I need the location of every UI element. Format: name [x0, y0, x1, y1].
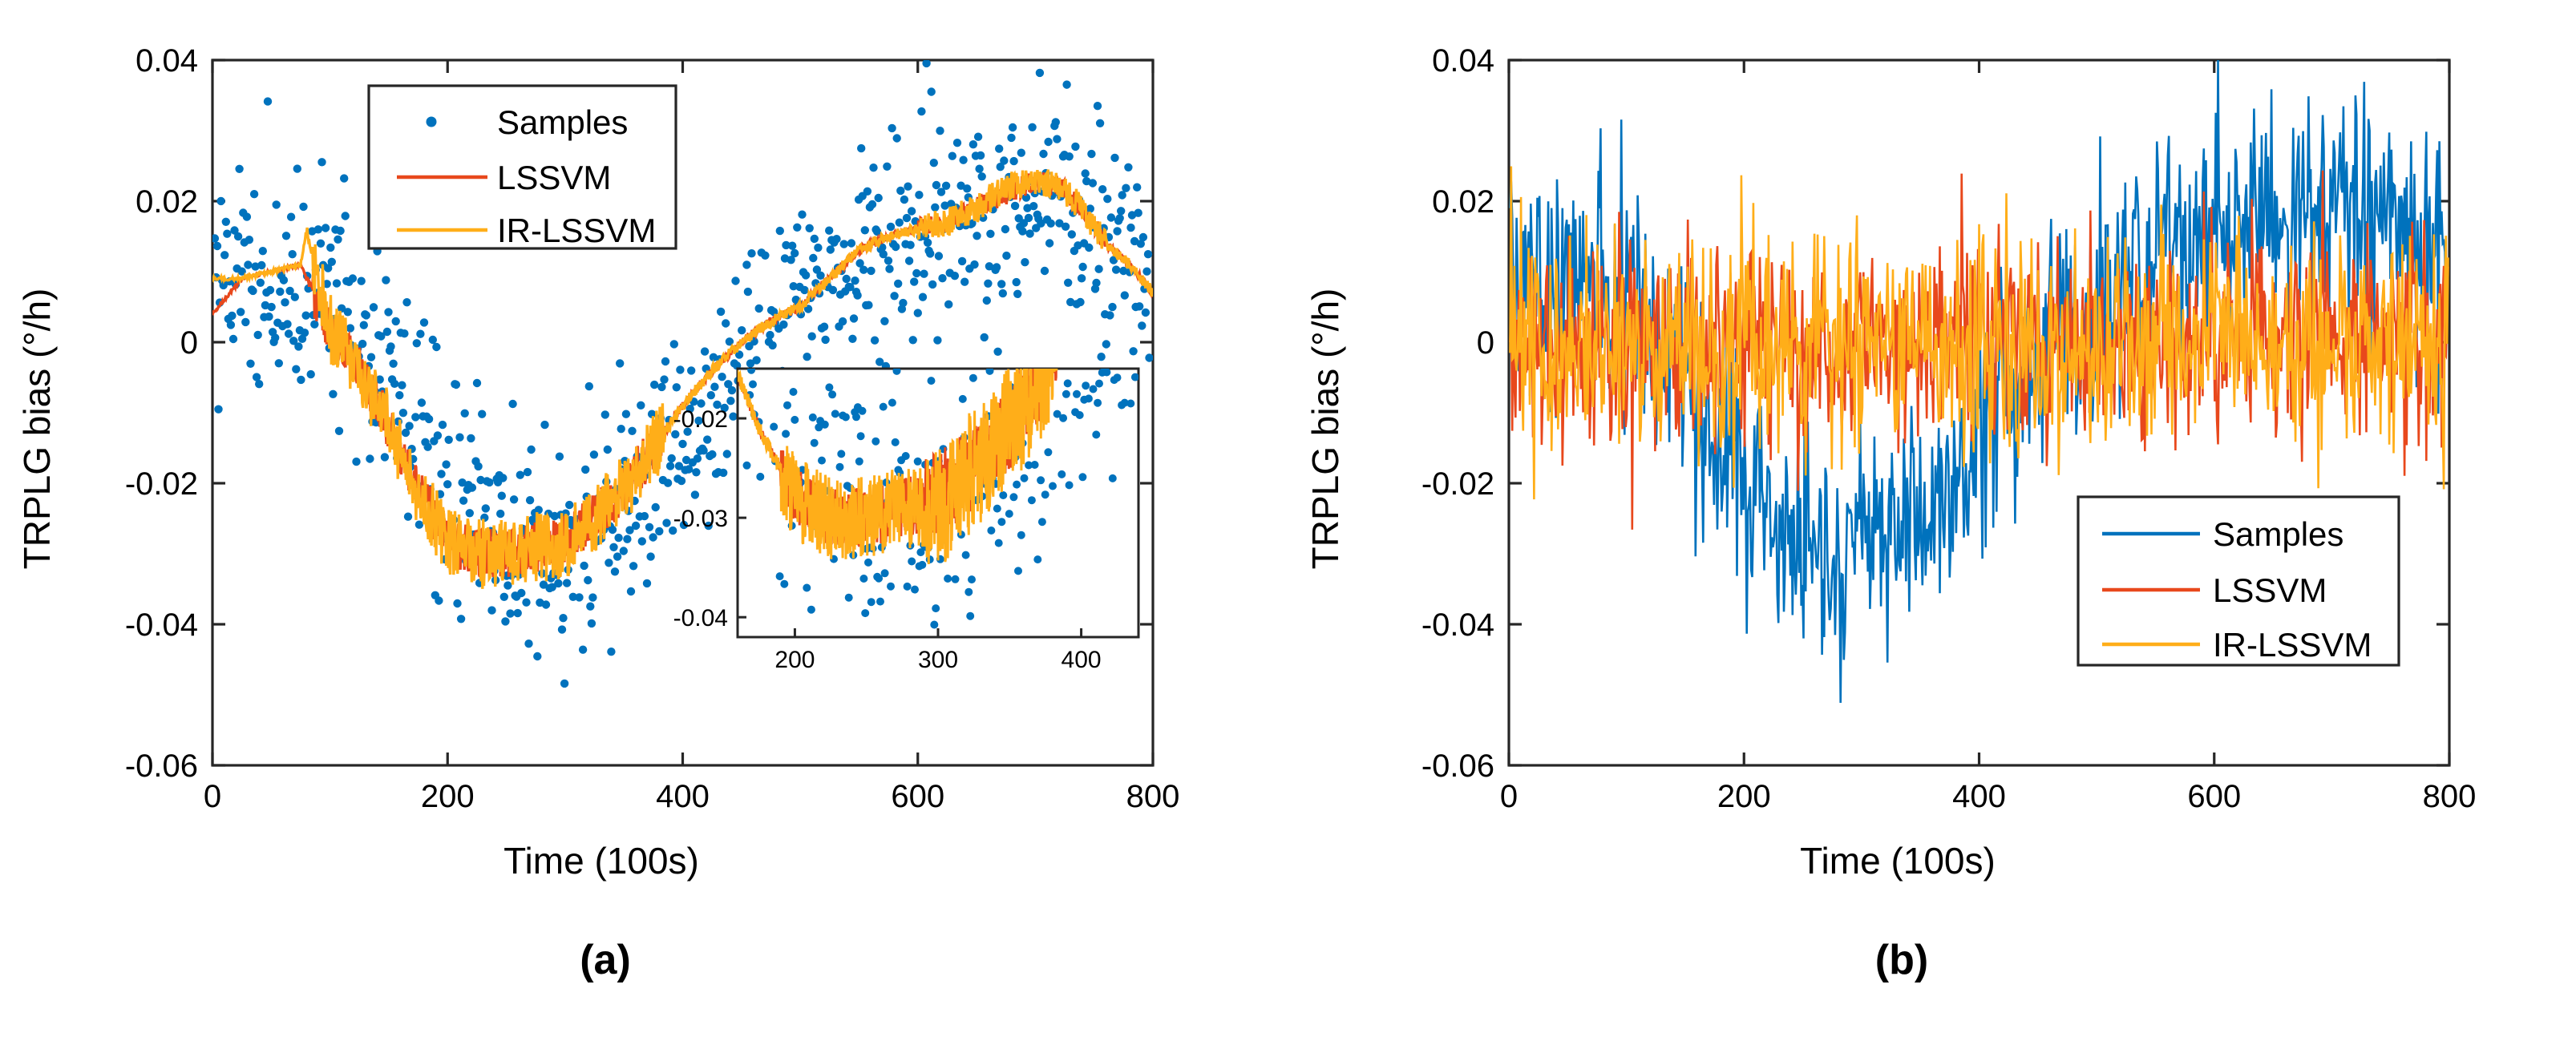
inset-y-tick-label: -0.04 — [673, 605, 728, 631]
inset-x-tick-label: 200 — [774, 647, 815, 673]
x-tick-label: 600 — [891, 779, 944, 814]
panel-b: SamplesLSSVMIR-LSSVM 0.040.020-0.02-0.04… — [1288, 0, 2576, 1041]
figure-root: SamplesLSSVMIR-LSSVM-0.02-0.03-0.0420030… — [0, 0, 2576, 1041]
y-tick-label: 0.02 — [1432, 184, 1494, 220]
panel-a-label: (a) — [580, 937, 631, 983]
y-tick-label: -0.04 — [1421, 607, 1494, 643]
y-tick-label: 0.04 — [135, 43, 198, 79]
y-tick-label: 0.04 — [1432, 43, 1494, 79]
legend-label-ir-lssvm: IR-LSSVM — [2213, 626, 2372, 664]
panel-a-ylabel: TRPLG bias (°/h) — [16, 288, 58, 570]
panel-b-label: (b) — [1875, 937, 1928, 983]
x-tick-label: 800 — [1126, 779, 1180, 814]
panel-a-xlabel: Time (100s) — [503, 840, 699, 882]
panel-a-inset: -0.02-0.03-0.04200300400 — [673, 230, 1139, 673]
x-tick-label: 0 — [1500, 779, 1518, 814]
legend-marker-samples — [427, 117, 437, 127]
y-tick-label: -0.02 — [1421, 466, 1494, 502]
panel-b-xlabel: Time (100s) — [1800, 840, 1996, 882]
x-tick-label: 600 — [2187, 779, 2241, 814]
panel-b-legend: SamplesLSSVMIR-LSSVM — [2078, 497, 2399, 665]
inset-y-tick-label: -0.02 — [673, 406, 728, 433]
legend-label-samples: Samples — [2213, 515, 2343, 553]
legend-label-lssvm: LSSVM — [497, 159, 611, 196]
panel-b-svg: SamplesLSSVMIR-LSSVM 0.040.020-0.02-0.04… — [1288, 0, 2576, 1041]
legend-label-ir-lssvm: IR-LSSVM — [497, 212, 656, 249]
panel-a-legend: SamplesLSSVMIR-LSSVM — [369, 86, 676, 249]
panel-b-ylabel: TRPLG bias (°/h) — [1304, 288, 1346, 570]
x-tick-label: 200 — [421, 779, 475, 814]
y-tick-label: -0.06 — [1421, 748, 1494, 784]
y-tick-label: -0.04 — [125, 607, 198, 643]
y-tick-label: 0.02 — [135, 184, 198, 220]
x-tick-label: 800 — [2423, 779, 2477, 814]
x-tick-label: 400 — [656, 779, 710, 814]
inset-x-tick-label: 300 — [918, 647, 958, 673]
y-tick-label: 0 — [180, 325, 198, 361]
inset-y-tick-label: -0.03 — [673, 506, 728, 532]
y-tick-label: -0.02 — [125, 466, 198, 502]
inset-x-tick-label: 400 — [1062, 647, 1102, 673]
x-tick-label: 400 — [1952, 779, 2006, 814]
panel-a-svg: SamplesLSSVMIR-LSSVM-0.02-0.03-0.0420030… — [0, 0, 1288, 1041]
legend-label-lssvm: LSSVM — [2213, 571, 2327, 609]
x-tick-label: 200 — [1717, 779, 1771, 814]
legend-label-samples: Samples — [497, 103, 628, 141]
y-tick-label: -0.06 — [125, 748, 198, 784]
panel-a: SamplesLSSVMIR-LSSVM-0.02-0.03-0.0420030… — [0, 0, 1288, 1041]
y-tick-label: 0 — [1477, 325, 1494, 361]
x-tick-label: 0 — [204, 779, 221, 814]
